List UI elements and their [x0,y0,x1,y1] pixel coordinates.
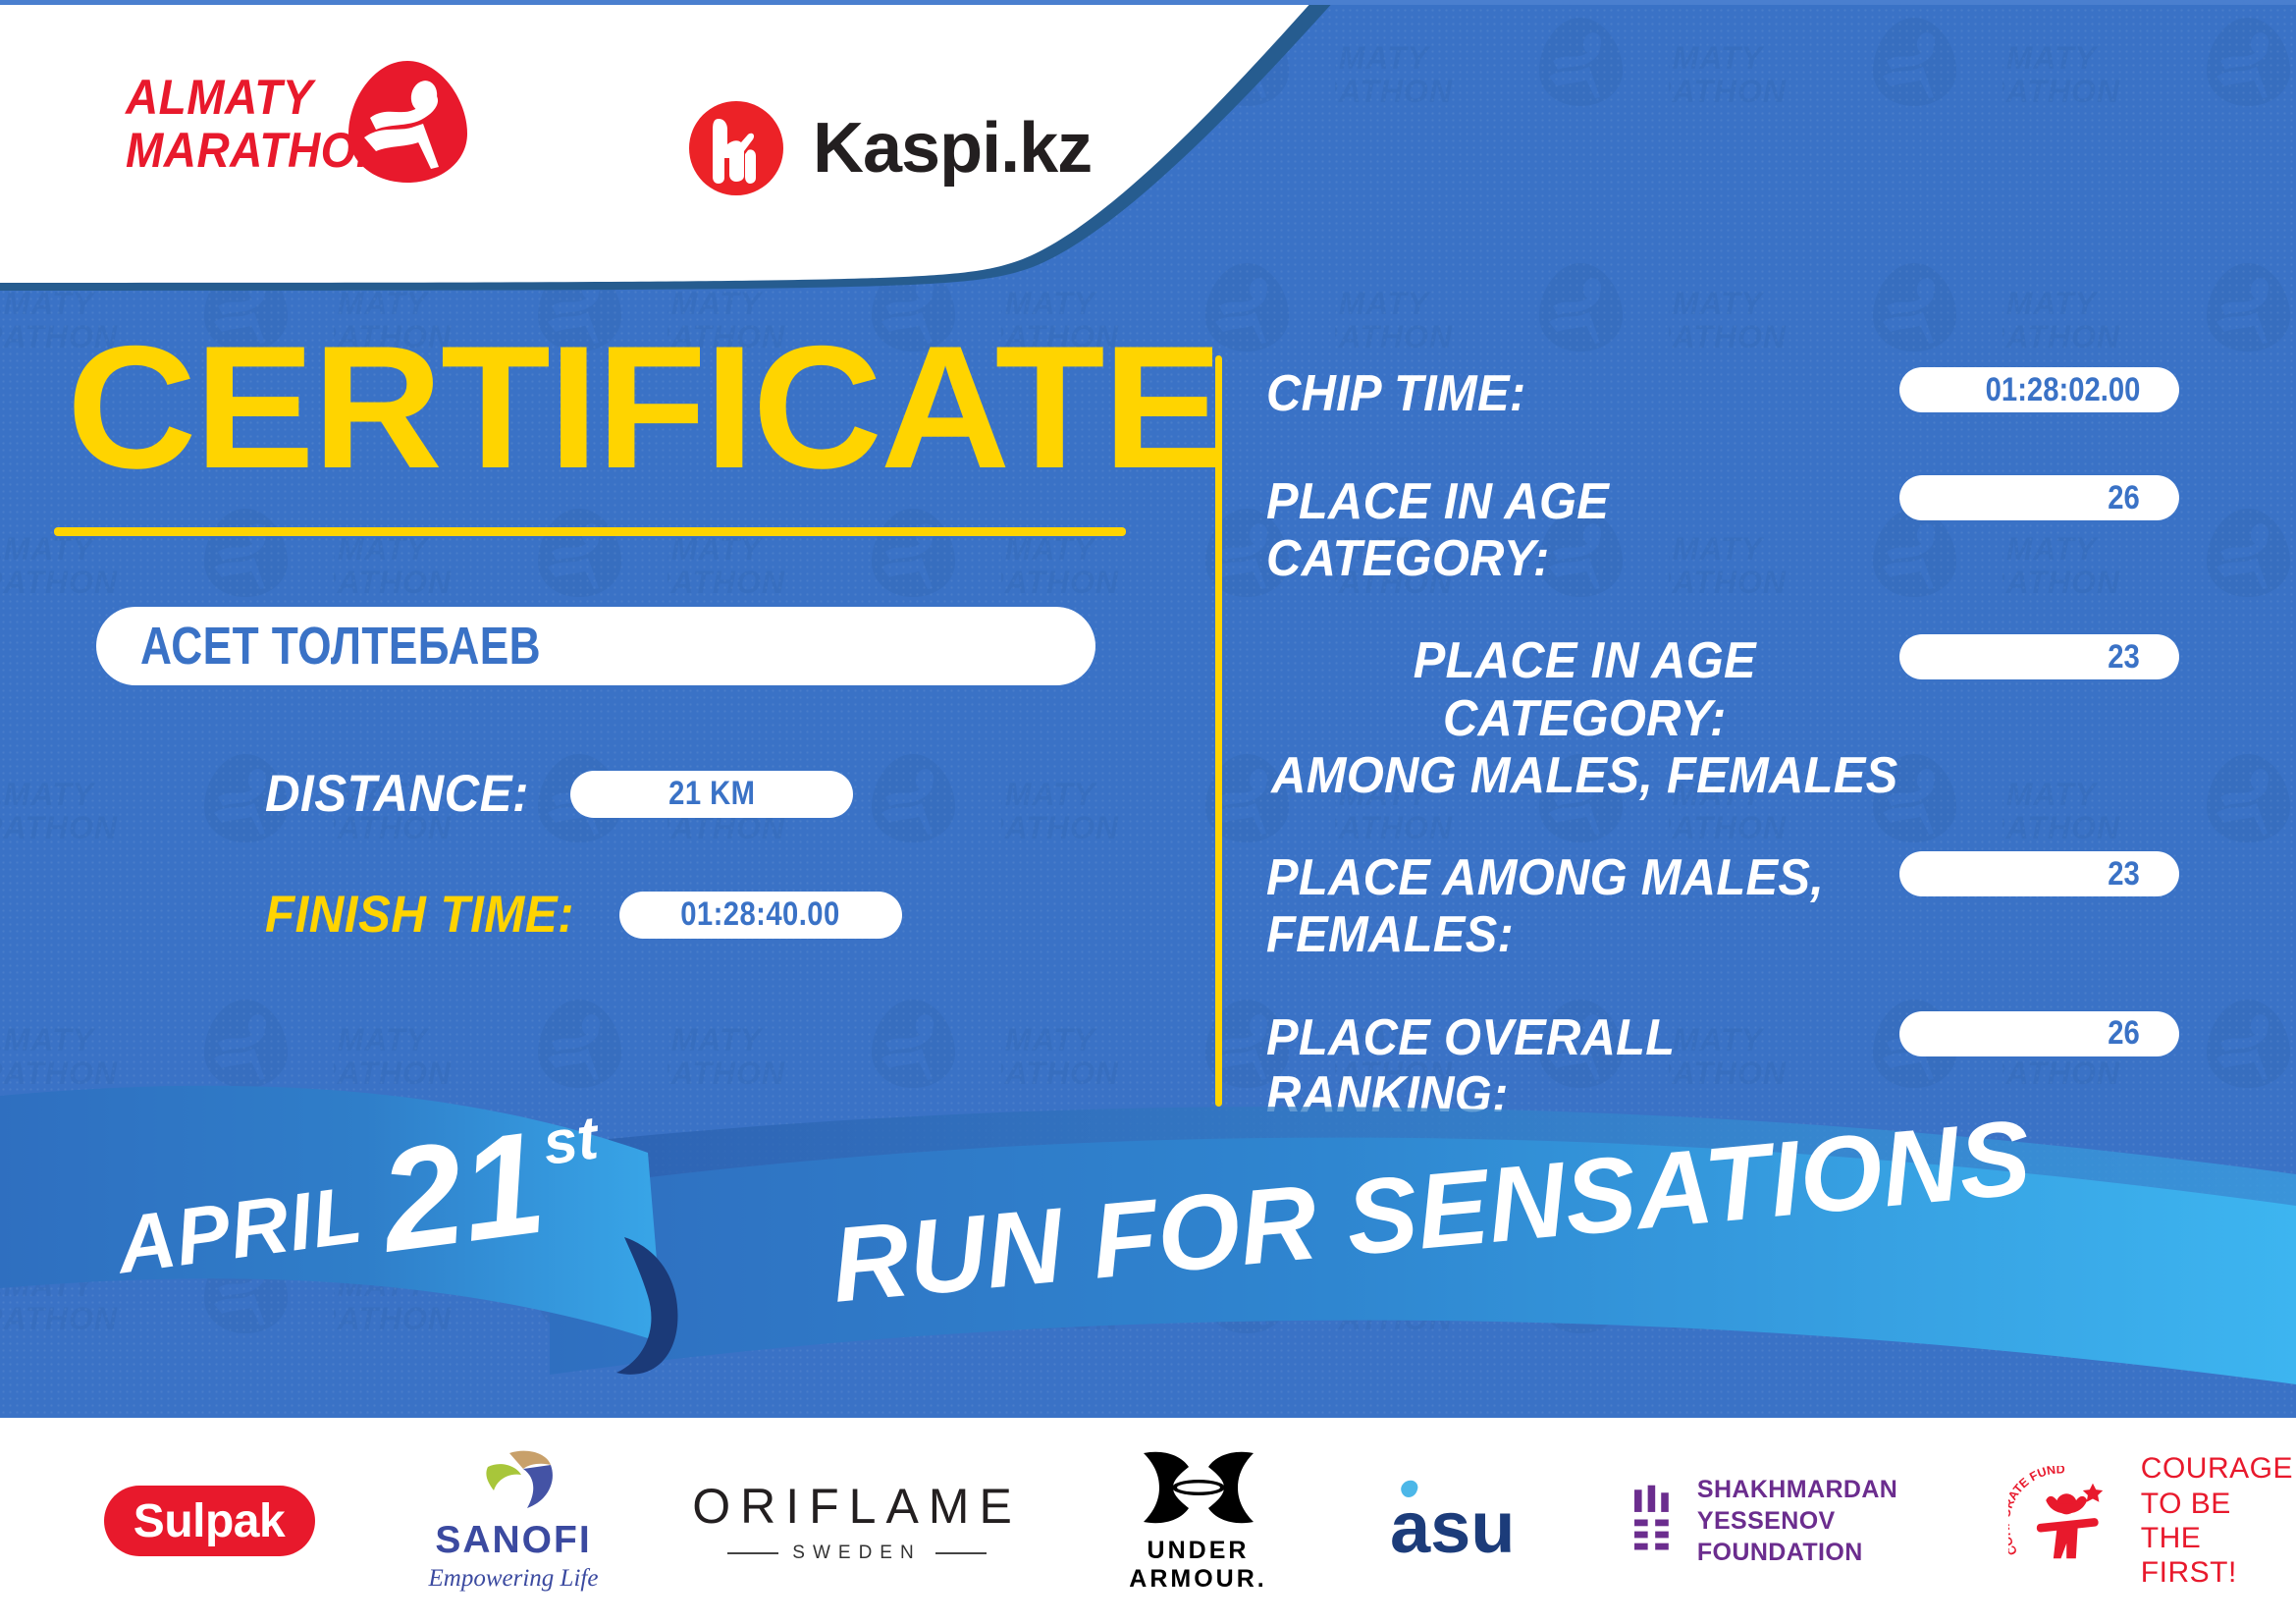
participant-name-value: АСЕТ ТОЛТЕБАЕВ [140,616,541,677]
place-age-category-gender-value: 23 [2108,638,2140,677]
oriflame-rule-left [727,1552,778,1554]
place-age-category-gender-label-line1: PLACE IN AGE CATEGORY: [1266,632,1903,746]
finish-time-label: FINISH TIME: [265,885,574,945]
place-age-category-value: 26 [2108,479,2140,517]
participant-name-field: АСЕТ ТОЛТЕБАЕВ [96,607,1095,685]
oriflame-name: ORIFLAME [692,1478,1022,1535]
distance-value: 21 KM [668,775,755,813]
kaspi-wordmark: Kaspi.kz [813,108,1092,189]
sponsor-asu: asu [1381,1447,1567,1595]
event-day-suffix: st [539,1103,602,1179]
sulpak-label: Sulpak [133,1494,285,1548]
event-day: 21 [375,1122,551,1262]
runner-drop-icon [347,59,469,185]
sponsor-bar: Sulpak SANOFI Empowering Life ORIFLAME S… [0,1418,2296,1624]
yessenov-line2: FOUNDATION [1697,1537,1958,1568]
almaty-marathon-logo-line1: ALMATY [126,71,371,124]
place-overall-value: 26 [2108,1014,2140,1053]
sponsor-under-armour: UNDER ARMOUR. [1088,1447,1308,1595]
top-accent-stripe [0,0,2296,5]
place-age-category-gender-pill: 23 [1899,634,2179,679]
oriflame-rule-right [935,1552,987,1554]
asu-wordmark: asu [1390,1487,1516,1566]
courage-fund-icon: CORPORATE FUND [2008,1466,2126,1576]
place-age-category-gender-label-line2: AMONG MALES, FEMALES [1266,747,1903,804]
chip-time-pill: 01:28:02.00 [1899,367,2179,412]
distance-row: DISTANCE: 21 KM [265,764,1158,824]
under-armour-label: UNDER ARMOUR. [1088,1537,1308,1594]
place-among-gender-label-line2: FEMALES: [1266,906,1857,963]
finish-time-value: 01:28:40.00 [680,895,839,934]
certificate-canvas: ALMATY MARATHON Kaspi.kz CERTIFICATE АСЕ… [0,0,2296,1624]
courage-line2: TO BE [2141,1487,2296,1521]
stat-row-chip-time: CHIP TIME: 01:28:02.00 [1266,365,2179,428]
results-column: CHIP TIME: 01:28:02.00 PLACE IN AGE CATE… [1266,365,2179,1168]
page-title: CERTIFICATE [67,324,1191,490]
distance-label: DISTANCE: [265,764,529,824]
almaty-marathon-logo: ALMATY MARATHON [126,61,450,198]
sponsor-sulpak: Sulpak [77,1447,342,1595]
place-overall-pill: 26 [1899,1011,2179,1056]
sanofi-mark-icon [466,1449,561,1514]
left-column: CERTIFICATE АСЕТ ТОЛТЕБАЕВ DISTANCE: 21 … [0,324,1158,945]
sanofi-name: SANOFI [429,1519,599,1562]
place-among-gender-label-line1: PLACE AMONG MALES, [1266,849,1857,906]
finish-time-row: FINISH TIME: 01:28:40.00 [265,885,1158,945]
almaty-marathon-logo-line2: MARATHON [126,124,371,177]
kaspi-circle-icon [687,99,785,197]
sponsor-courage-fund: CORPORATE FUND COURAGE TO BE THE FIRST! [2011,1447,2296,1595]
stat-row-place-among-gender: PLACE AMONG MALES, FEMALES: 23 [1266,849,2179,963]
sponsor-yessenov-foundation: SHAKHMARDAN YESSENOV FOUNDATION [1631,1447,1958,1595]
title-underline [54,527,1126,536]
oriflame-sub: SWEDEN [792,1543,921,1564]
sulpak-logo: Sulpak [104,1486,315,1556]
stat-row-place-age-category-gender: PLACE IN AGE CATEGORY: AMONG MALES, FEMA… [1266,632,2179,804]
yessenov-mark-icon [1631,1474,1678,1568]
stat-row-place-age-category: PLACE IN AGE CATEGORY: 26 [1266,473,2179,587]
under-armour-icon [1134,1449,1263,1526]
courage-line3: THE FIRST! [2141,1521,2296,1591]
finish-time-pill: 01:28:40.00 [619,892,902,939]
place-age-category-gender-label: PLACE IN AGE CATEGORY: AMONG MALES, FEMA… [1266,632,1903,804]
sponsor-oriflame: ORIFLAME SWEDEN [695,1447,1019,1595]
kaspi-logo: Kaspi.kz [687,94,1092,202]
place-among-gender-pill: 23 [1899,851,2179,896]
sanofi-tagline: Empowering Life [429,1565,599,1593]
distance-pill: 21 KM [570,771,853,818]
place-among-gender-value: 23 [2108,855,2140,893]
chip-time-value: 01:28:02.00 [1985,371,2140,409]
sponsor-sanofi: SANOFI Empowering Life [399,1447,628,1595]
place-age-category-pill: 26 [1899,475,2179,520]
yessenov-line1: SHAKHMARDAN YESSENOV [1697,1474,1958,1537]
courage-line1: COURAGE [2141,1451,2296,1486]
asu-logo: asu [1386,1476,1563,1566]
